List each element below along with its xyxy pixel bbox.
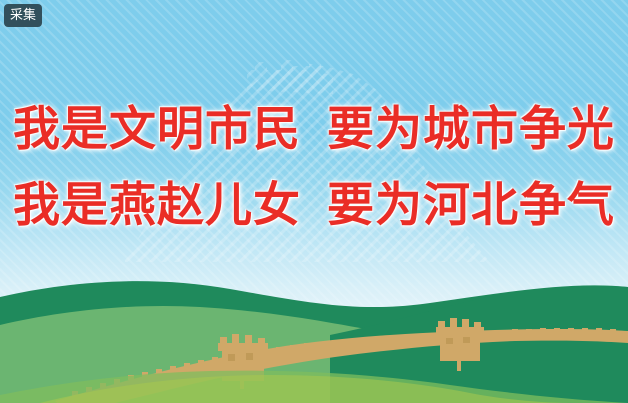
capture-button[interactable]: 采集 xyxy=(4,4,42,27)
poster-canvas: 我是文明市民要为城市争光 我是燕赵儿女要为河北争气 xyxy=(0,0,628,403)
headline-line-2: 我是燕赵儿女要为河北争气 xyxy=(0,168,628,244)
landscape-illustration xyxy=(0,273,628,403)
headline-line-2-left: 我是燕赵儿女 xyxy=(13,178,301,233)
headline-block: 我是文明市民要为城市争光 我是燕赵儿女要为河北争气 xyxy=(0,92,628,244)
headline-line-1-right: 要为城市争光 xyxy=(327,102,615,157)
headline-line-1: 我是文明市民要为城市争光 xyxy=(0,92,628,168)
headline-line-2-right: 要为河北争气 xyxy=(327,178,615,233)
headline-line-1-left: 我是文明市民 xyxy=(13,102,301,157)
